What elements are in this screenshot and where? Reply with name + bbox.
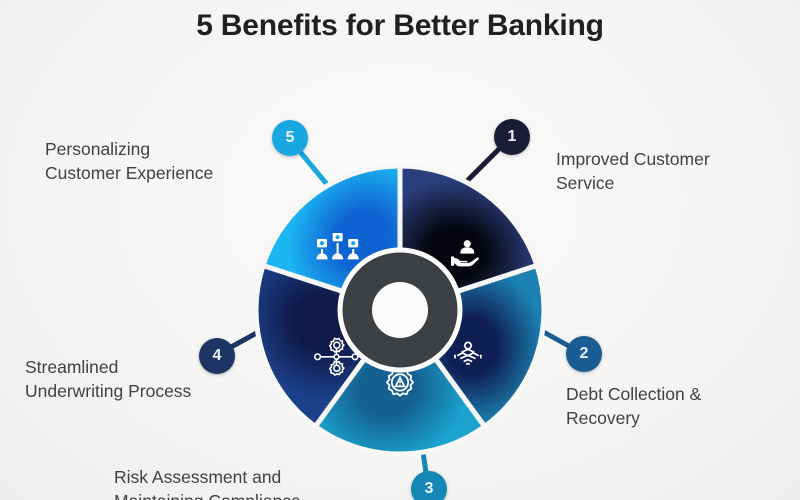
benefit-label-2-line-1: Debt Collection & [566, 382, 786, 406]
benefit-label-3-line-2: Maintaining Compliance [114, 489, 414, 500]
benefits-donut-chart [251, 161, 549, 459]
benefit-label-5-line-1: Personalizing [45, 137, 295, 161]
benefit-label-4-line-2: Underwriting Process [25, 379, 285, 403]
title-line-2: 5 Benefits for Better Banking [0, 8, 800, 44]
benefit-label-2: Debt Collection & Recovery [566, 382, 786, 430]
benefit-label-3: Risk Assessment and Maintaining Complian… [114, 465, 414, 500]
benefit-label-1: Improved Customer Service [556, 147, 786, 195]
page-title: AI in Finance – 5 Benefits for Better Ba… [0, 0, 800, 44]
badge-number-3[interactable]: 3 [411, 471, 447, 500]
benefit-label-5-line-2: Customer Experience [45, 161, 295, 185]
benefit-label-3-line-1: Risk Assessment and [114, 465, 414, 489]
benefit-label-5: Personalizing Customer Experience [45, 137, 295, 185]
benefit-label-4: Streamlined Underwriting Process [25, 355, 285, 403]
badge-number-1[interactable]: 1 [494, 119, 530, 155]
badge-number-2[interactable]: 2 [566, 336, 602, 372]
infographic-canvas: AI in Finance – 5 Benefits for Better Ba… [0, 0, 800, 500]
benefit-label-1-line-1: Improved Customer [556, 147, 786, 171]
benefit-label-4-line-1: Streamlined [25, 355, 285, 379]
benefit-label-2-line-2: Recovery [566, 406, 786, 430]
benefit-label-1-line-2: Service [556, 171, 786, 195]
title-line-1: AI in Finance – [0, 0, 800, 8]
donut-center-hole [372, 282, 428, 338]
